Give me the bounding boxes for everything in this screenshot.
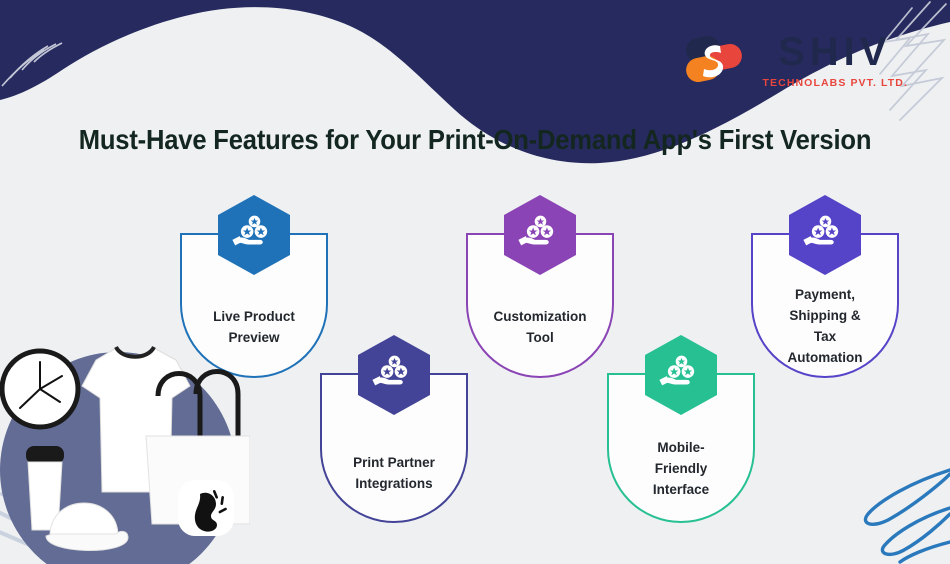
page-title: Must-Have Features for Your Print-On-Dem… bbox=[33, 124, 917, 156]
scribble-blue-bottomright bbox=[865, 470, 950, 562]
feature-card-print-partner-integrations[interactable]: Print Partner Integrations bbox=[320, 375, 468, 523]
feature-card-customization-tool[interactable]: Customization Tool bbox=[466, 235, 614, 378]
wall-clock-mockup bbox=[2, 351, 78, 427]
hand-holding-stars-icon bbox=[358, 335, 430, 415]
hand-holding-stars-icon bbox=[218, 195, 290, 275]
hand-holding-stars-icon bbox=[645, 335, 717, 415]
hand-holding-stars-icon bbox=[504, 195, 576, 275]
hand-holding-stars-icon bbox=[789, 195, 861, 275]
product-mockup-cluster bbox=[0, 324, 250, 564]
app-icon-badge bbox=[178, 480, 234, 536]
brand-tagline: TECHNOLABS PVT. LTD. bbox=[763, 78, 908, 89]
feature-card-label: Customization Tool bbox=[488, 307, 593, 349]
feature-card-label: Payment, Shipping & Tax Automation bbox=[782, 285, 869, 369]
feature-card-mobile-friendly-interface[interactable]: Mobile- Friendly Interface bbox=[607, 375, 755, 523]
feature-card-label: Print Partner Integrations bbox=[347, 453, 441, 495]
feature-card-label: Mobile- Friendly Interface bbox=[647, 438, 715, 501]
shiv-s-mark-icon bbox=[686, 35, 744, 85]
wave-streak-lines bbox=[2, 43, 62, 86]
brand-logo: SHIV TECHNOLABS PVT. LTD. bbox=[686, 32, 908, 89]
feature-card-payment-shipping-tax-automation[interactable]: Payment, Shipping & Tax Automation bbox=[751, 235, 899, 378]
infographic-canvas: SHIV TECHNOLABS PVT. LTD. Must-Have Feat… bbox=[0, 0, 950, 564]
brand-name: SHIV bbox=[778, 32, 891, 72]
